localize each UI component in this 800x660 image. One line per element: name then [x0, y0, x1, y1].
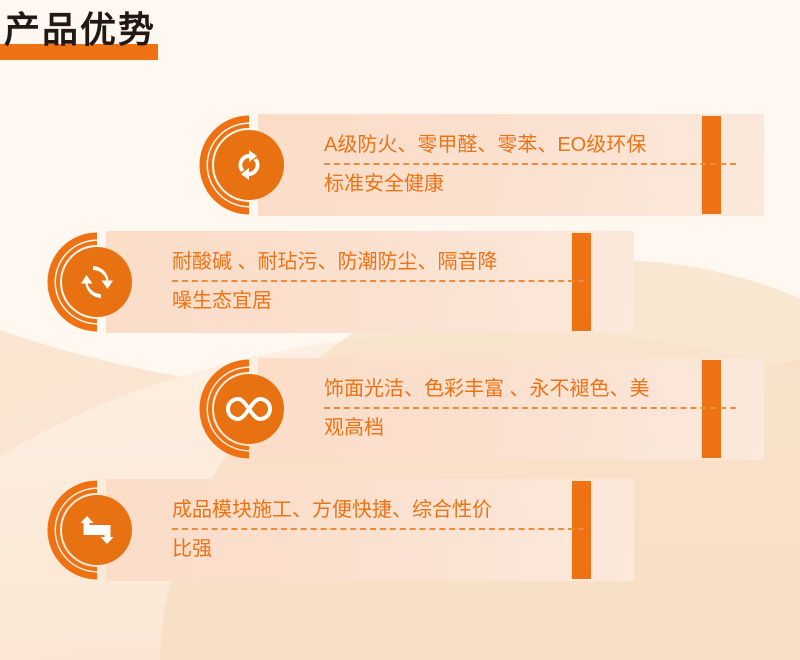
sync-refresh-icon [62, 247, 132, 317]
feature-icon-badge [44, 229, 150, 335]
feature-divider [172, 280, 584, 282]
feature-divider [324, 407, 736, 409]
infinity-icon [214, 374, 284, 444]
feature-line-1: 成品模块施工、方便快捷、综合性价 [172, 493, 592, 527]
feature-line-2: 标准安全健康 [324, 167, 744, 201]
feature-line-2: 噪生态宜居 [172, 284, 592, 318]
feature-line-2: 比强 [172, 532, 592, 566]
repeat-arrows-icon [62, 495, 132, 565]
feature-row: 耐酸碱 、耐玷污、防潮防尘、隔音降 噪生态宜居 [44, 231, 636, 333]
cycle-arrows-icon [214, 130, 284, 200]
feature-line-1: 饰面光洁、色彩丰富 、永不褪色、美 [324, 372, 744, 406]
feature-icon-badge [44, 477, 150, 583]
feature-line-1: 耐酸碱 、耐玷污、防潮防尘、隔音降 [172, 245, 592, 279]
feature-line-1: A级防火、零甲醛、零苯、EO级环保 [324, 128, 744, 162]
feature-icon-badge [196, 112, 302, 218]
feature-text: 耐酸碱 、耐玷污、防潮防尘、隔音降 噪生态宜居 [172, 245, 592, 318]
feature-icon-badge [196, 356, 302, 462]
feature-divider [172, 528, 584, 530]
feature-divider [324, 163, 736, 165]
feature-line-2: 观高档 [324, 411, 744, 445]
feature-row: 饰面光洁、色彩丰富 、永不褪色、美 观高档 [196, 358, 766, 460]
slide-canvas: 产品优势 A级防火、零甲醛、零苯、EO级环保 标准安全健康 [0, 0, 800, 660]
page-title-block: 产品优势 [0, 6, 300, 68]
page-title: 产品优势 [4, 6, 156, 54]
feature-text: A级防火、零甲醛、零苯、EO级环保 标准安全健康 [324, 128, 744, 201]
feature-text: 成品模块施工、方便快捷、综合性价 比强 [172, 493, 592, 566]
feature-row: A级防火、零甲醛、零苯、EO级环保 标准安全健康 [196, 114, 766, 216]
feature-text: 饰面光洁、色彩丰富 、永不褪色、美 观高档 [324, 372, 744, 445]
feature-row: 成品模块施工、方便快捷、综合性价 比强 [44, 479, 636, 581]
